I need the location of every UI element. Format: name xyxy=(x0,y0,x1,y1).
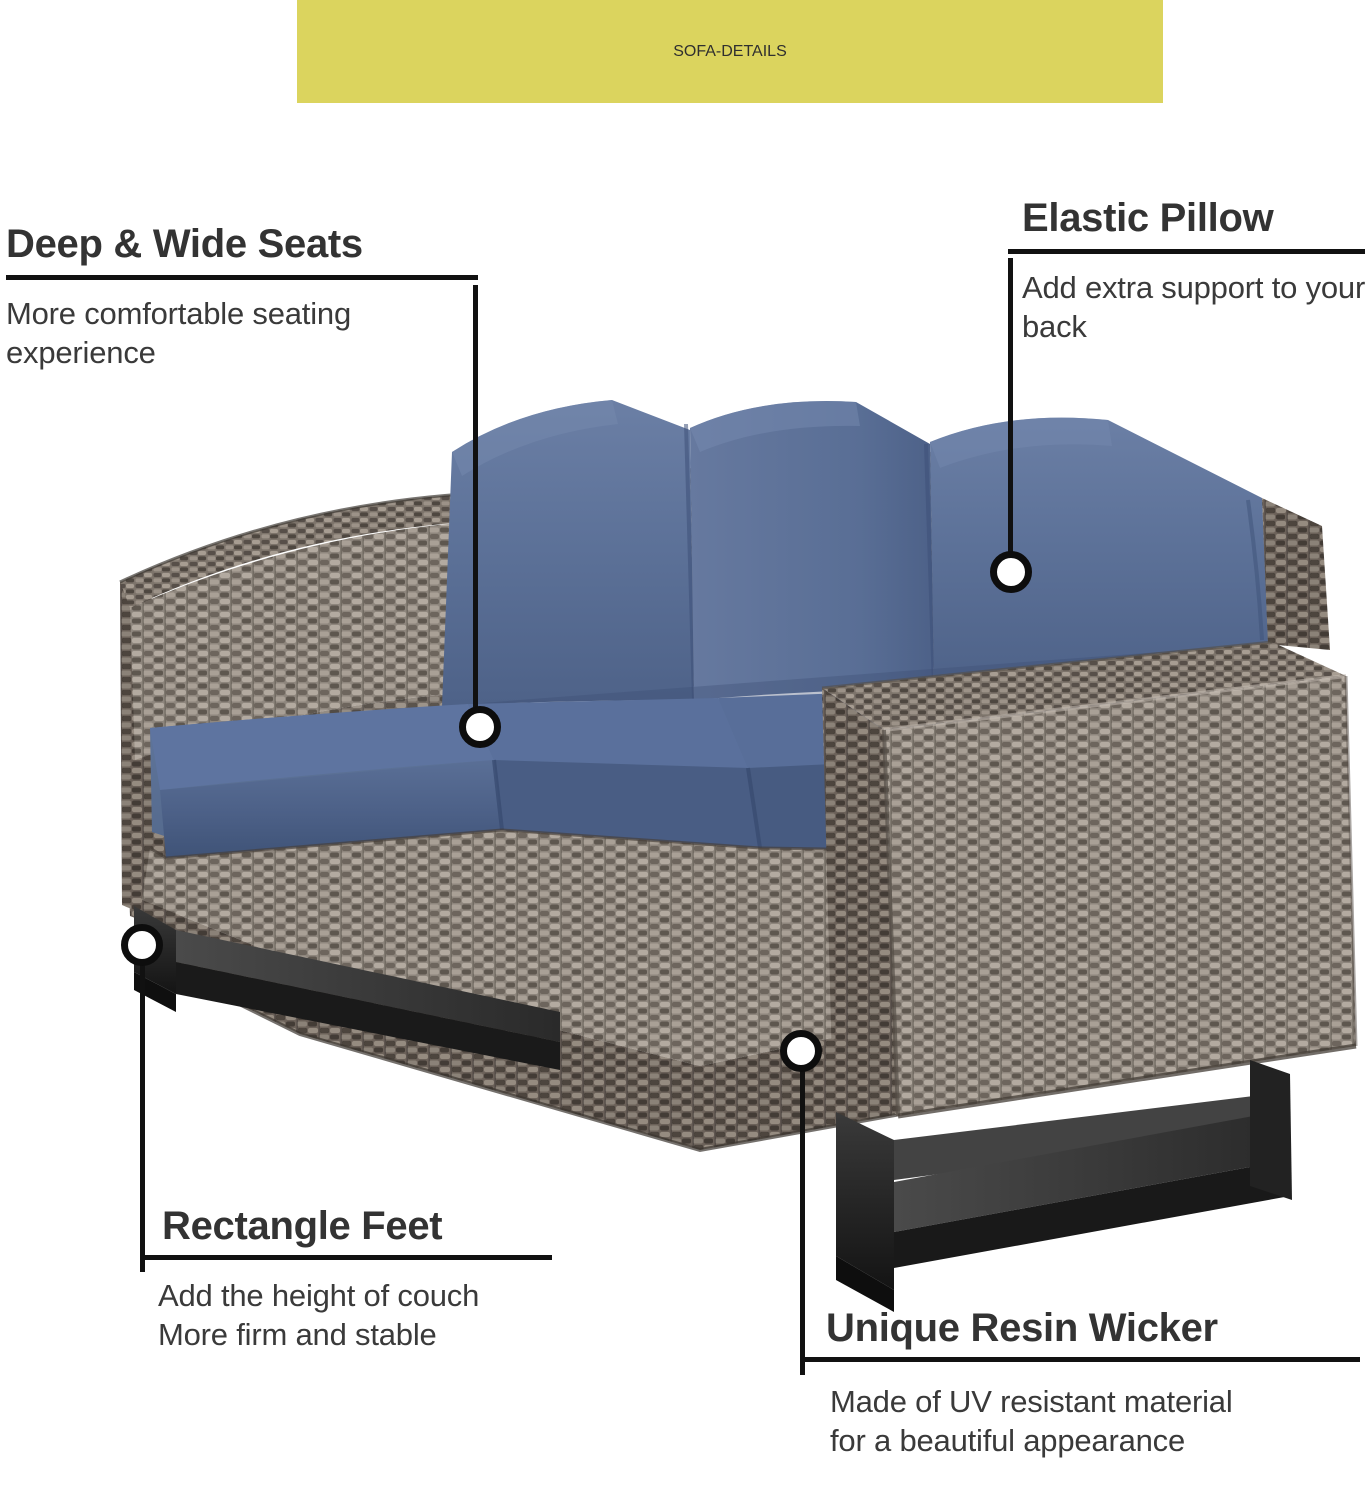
callout-rule-unique-resin-wicker xyxy=(800,1357,1360,1362)
callout-heading-rectangle-feet: Rectangle Feet xyxy=(140,1204,552,1249)
connector-line-rectangle-feet xyxy=(140,945,145,1272)
callout-rule-rectangle-feet xyxy=(140,1255,552,1260)
callout-body-elastic-pillow: Add extra support to your back xyxy=(1008,268,1367,347)
callout-body-line-2: More firm and stable xyxy=(158,1315,570,1355)
callout-heading-unique-resin-wicker: Unique Resin Wicker xyxy=(800,1306,1360,1351)
page-title: SOFA-DETAILS xyxy=(673,43,787,61)
marker-dot-unique-resin-wicker xyxy=(780,1030,822,1072)
callout-body-rectangle-feet: Add the height of couch More firm and st… xyxy=(140,1276,570,1355)
callout-unique-resin-wicker: Unique Resin Wicker Made of UV resistant… xyxy=(800,1306,1360,1461)
marker-dot-rectangle-feet xyxy=(121,924,163,966)
callout-rectangle-feet: Rectangle Feet Add the height of couch M… xyxy=(140,1204,552,1355)
callout-rule-elastic-pillow xyxy=(1008,249,1365,254)
callout-elastic-pillow: Elastic Pillow Add extra support to your… xyxy=(1008,196,1365,347)
callout-body-unique-resin-wicker: Made of UV resistant material for a beau… xyxy=(800,1382,1371,1461)
header-banner: SOFA-DETAILS xyxy=(297,0,1163,103)
callout-body-line-1: Add the height of couch xyxy=(158,1276,570,1316)
marker-dot-deep-wide-seats xyxy=(459,706,501,748)
connector-line-elastic-pillow xyxy=(1008,258,1013,556)
callout-deep-wide-seats: Deep & Wide Seats More comfortable seati… xyxy=(6,222,478,373)
marker-dot-elastic-pillow xyxy=(990,551,1032,593)
callout-heading-elastic-pillow: Elastic Pillow xyxy=(1008,196,1365,241)
callout-body-line-2: for a beautiful appearance xyxy=(830,1421,1371,1461)
connector-line-unique-resin-wicker xyxy=(800,1051,805,1375)
callout-body-deep-wide-seats: More comfortable seating experience xyxy=(6,294,472,373)
callout-heading-deep-wide-seats: Deep & Wide Seats xyxy=(6,222,478,267)
connector-line-deep-wide-seats xyxy=(473,285,478,710)
callout-body-line-1: Made of UV resistant material xyxy=(830,1382,1371,1422)
callout-rule-deep-wide-seats xyxy=(6,275,478,280)
